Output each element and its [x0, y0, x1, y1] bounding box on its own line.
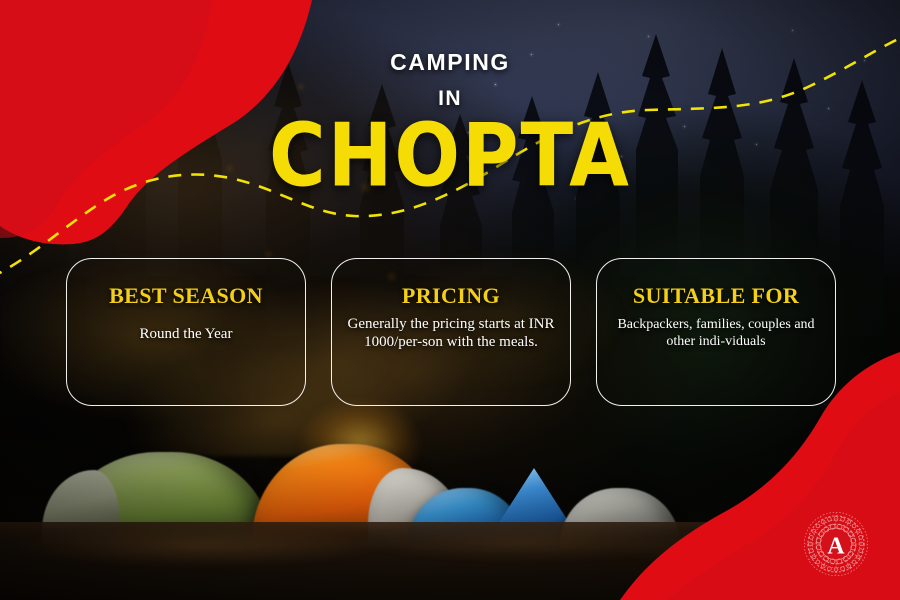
card-body-suitable-for: Backpackers, families, couples and other… [609, 317, 823, 351]
card-title-suitable-for: SUITABLE FOR [609, 285, 823, 307]
card-body-best-season: Round the Year [79, 325, 293, 344]
card-title-pricing: PRICING [344, 285, 558, 307]
card-suitable-for: SUITABLE FOR Backpackers, families, coup… [596, 258, 836, 406]
card-body-pricing: Generally the pricing starts at INR 1000… [344, 315, 558, 351]
info-cards: BEST SEASON Round the Year PRICING Gener… [66, 258, 836, 406]
brand-logo[interactable]: A [800, 508, 872, 580]
infographic-poster: CAMPING IN CHOPTA BEST SEASON Round the … [0, 0, 900, 600]
card-best-season: BEST SEASON Round the Year [66, 258, 306, 406]
card-pricing: PRICING Generally the pricing starts at … [331, 258, 571, 406]
logo-letter: A [827, 533, 844, 559]
kicker-camping: CAMPING [0, 50, 900, 74]
card-title-best-season: BEST SEASON [79, 285, 293, 307]
destination-title: CHOPTA [5, 116, 896, 198]
headline-block: CAMPING IN CHOPTA [0, 50, 900, 190]
